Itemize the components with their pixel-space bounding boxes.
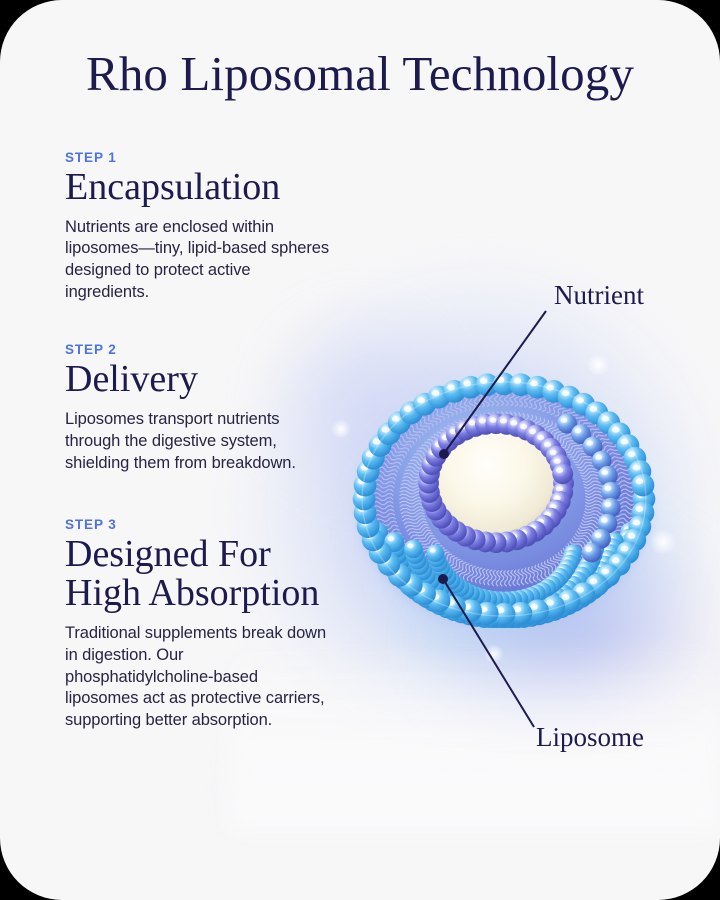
step-heading: Delivery (65, 360, 335, 400)
step-item-1: STEP 1 Encapsulation Nutrients are enclo… (65, 150, 335, 304)
infographic-card: Rho Liposomal Technology STEP 1 Encapsul… (0, 0, 720, 900)
callout-label-nutrient: Nutrient (554, 280, 644, 311)
step-item-2: STEP 2 Delivery Liposomes transport nutr… (65, 342, 335, 474)
step-description: Liposomes transport nutrients through th… (65, 409, 335, 475)
liposome-svg (345, 370, 663, 628)
step-description: Nutrients are enclosed within liposomes—… (65, 217, 335, 305)
step-number-label: STEP 3 (65, 517, 335, 532)
step-heading: Designed For High Absorption (65, 535, 335, 614)
steps-list: STEP 1 Encapsulation Nutrients are enclo… (65, 150, 335, 732)
callout-label-liposome: Liposome (536, 722, 644, 753)
step-heading: Encapsulation (65, 168, 335, 208)
step-number-label: STEP 2 (65, 342, 335, 357)
step-number-label: STEP 1 (65, 150, 335, 165)
step-item-3: STEP 3 Designed For High Absorption Trad… (65, 517, 335, 733)
liposome-illustration (320, 345, 690, 645)
step-description: Traditional supplements break down in di… (65, 623, 335, 733)
page-title: Rho Liposomal Technology (0, 48, 720, 101)
